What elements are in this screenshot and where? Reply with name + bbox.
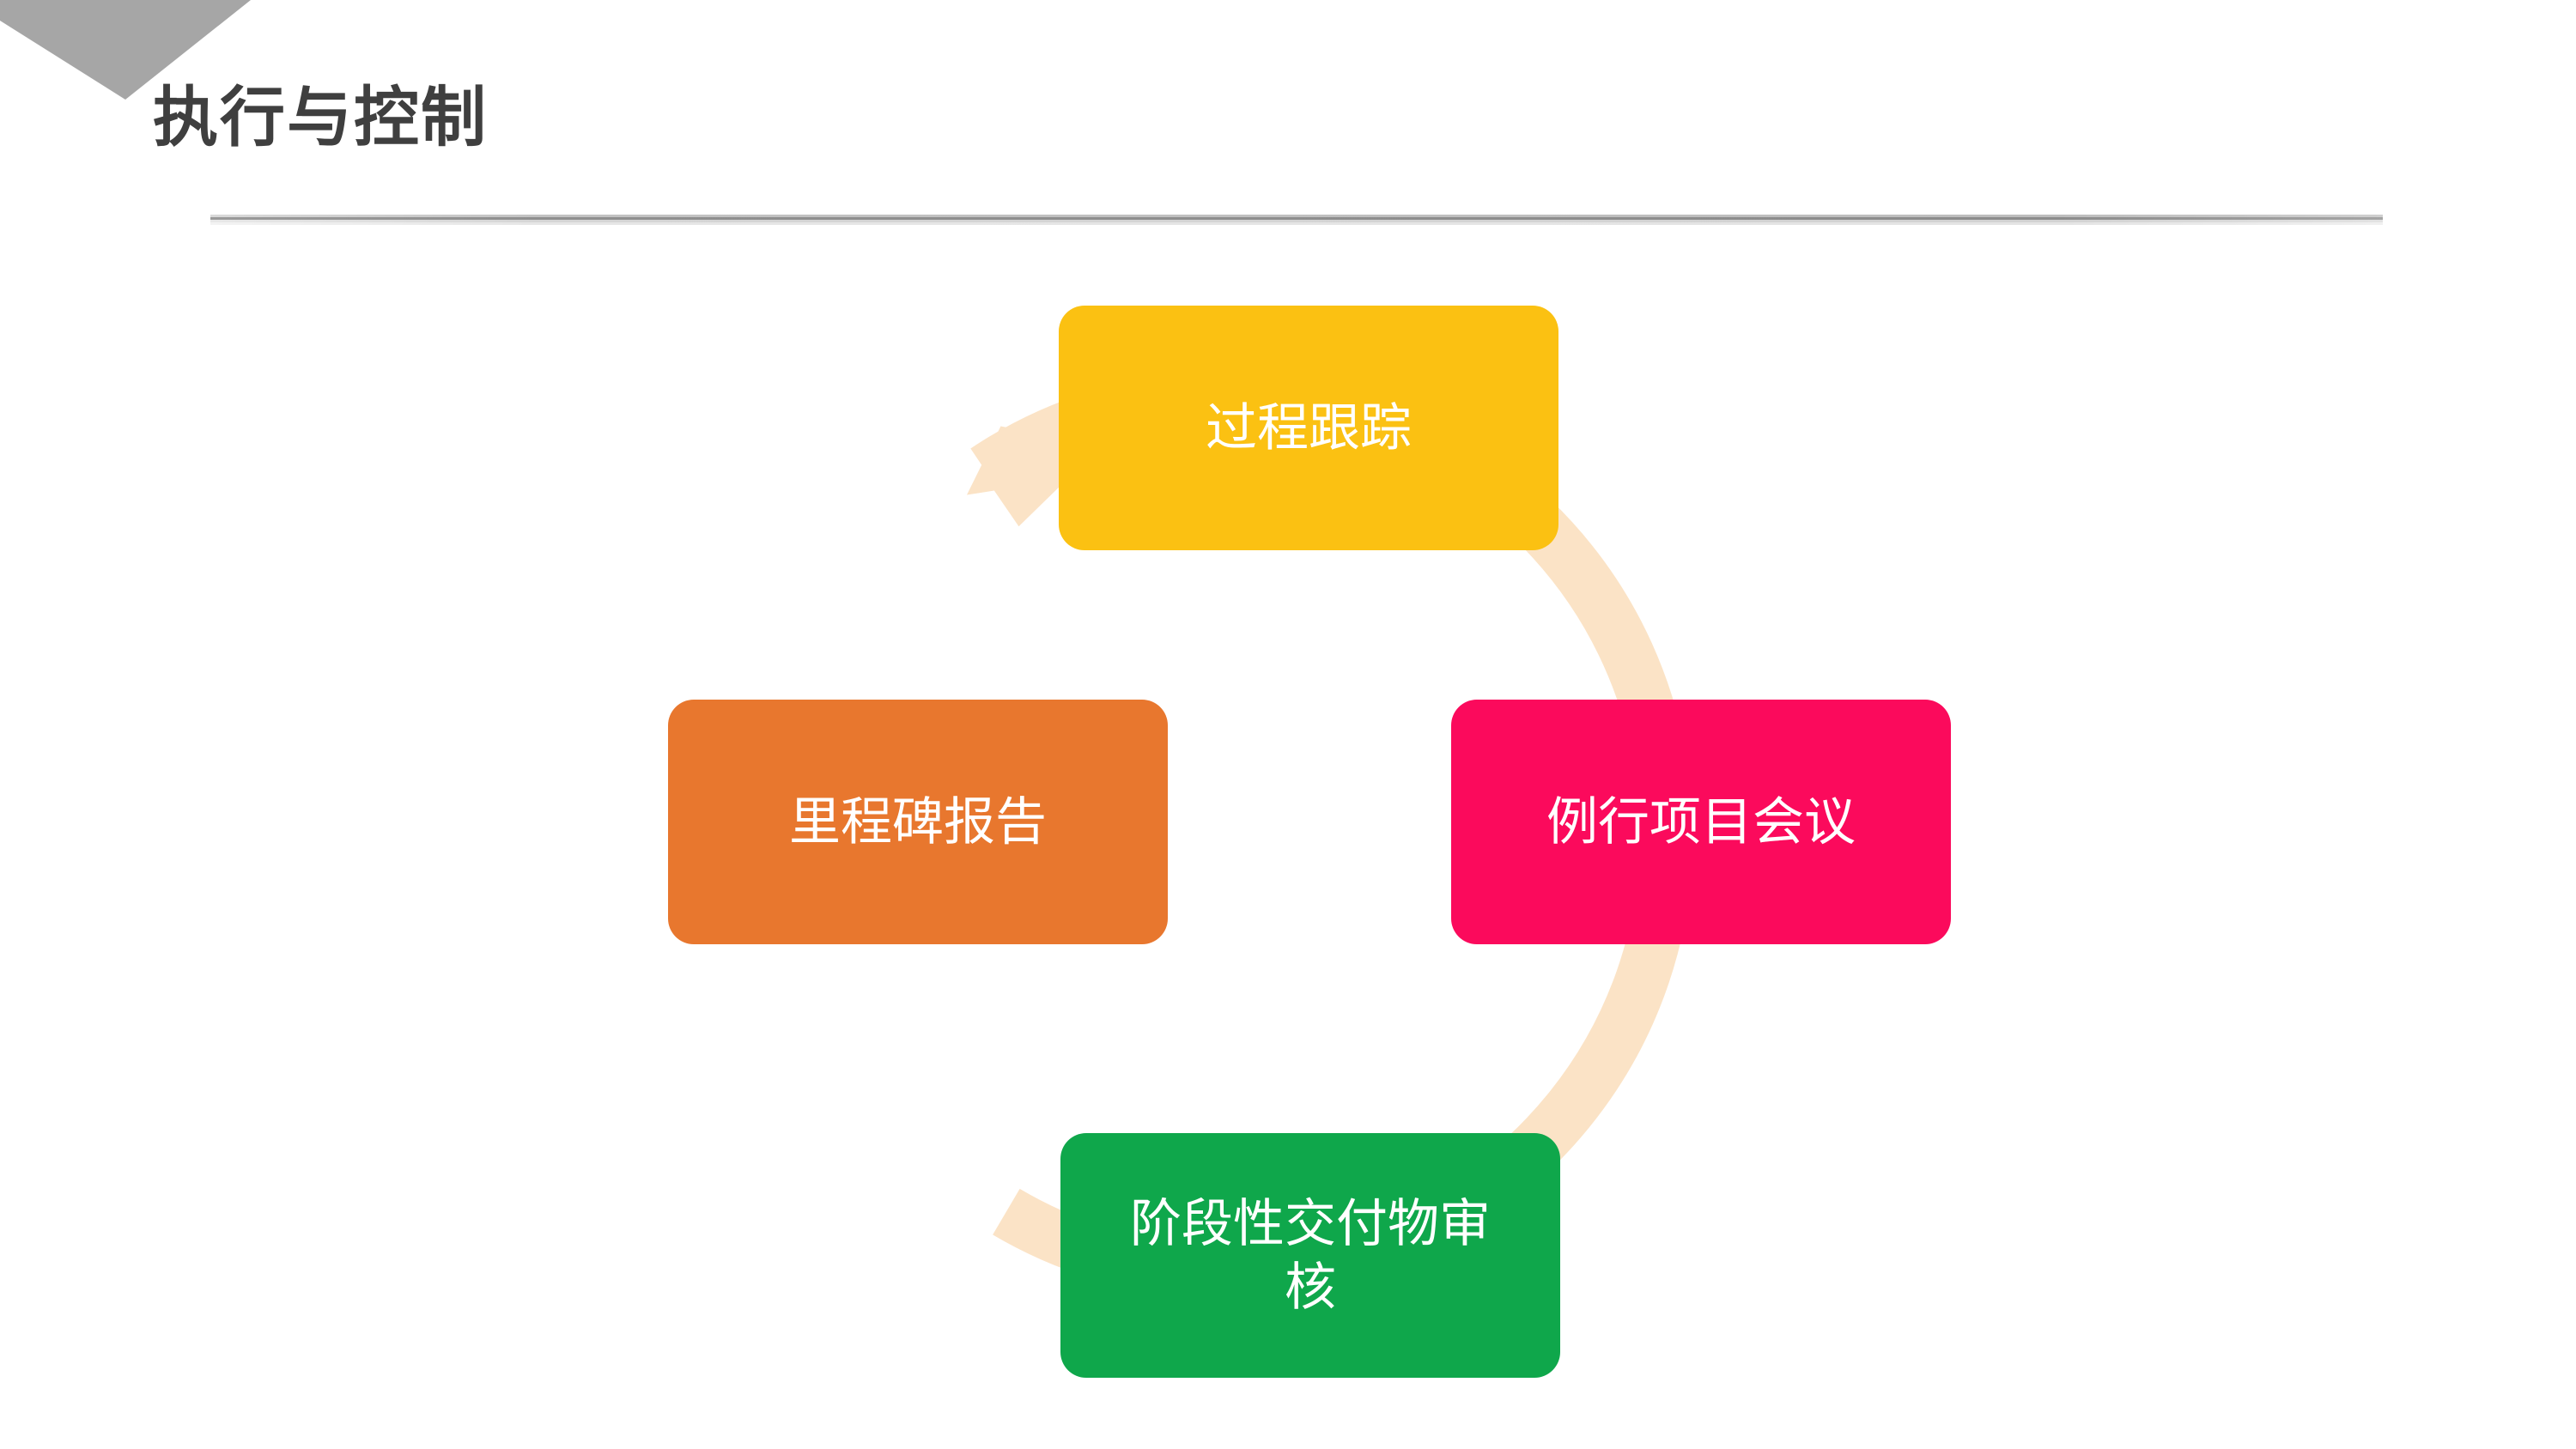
cycle-diagram: 过程跟踪 例行项目会议 阶段性交付物审 核 里程碑报告 — [0, 0, 2576, 1449]
cycle-node-milestone-report[interactable]: 里程碑报告 — [668, 700, 1168, 944]
cycle-node-deliverable-review[interactable]: 阶段性交付物审 核 — [1060, 1133, 1560, 1378]
cycle-node-routine-meeting[interactable]: 例行项目会议 — [1451, 700, 1951, 944]
slide-canvas: 执行与控制 过程跟踪 例行项目会议 阶段性交付物审 核 里程碑报告 — [0, 0, 2576, 1449]
cycle-node-process-tracking[interactable]: 过程跟踪 — [1059, 306, 1558, 550]
